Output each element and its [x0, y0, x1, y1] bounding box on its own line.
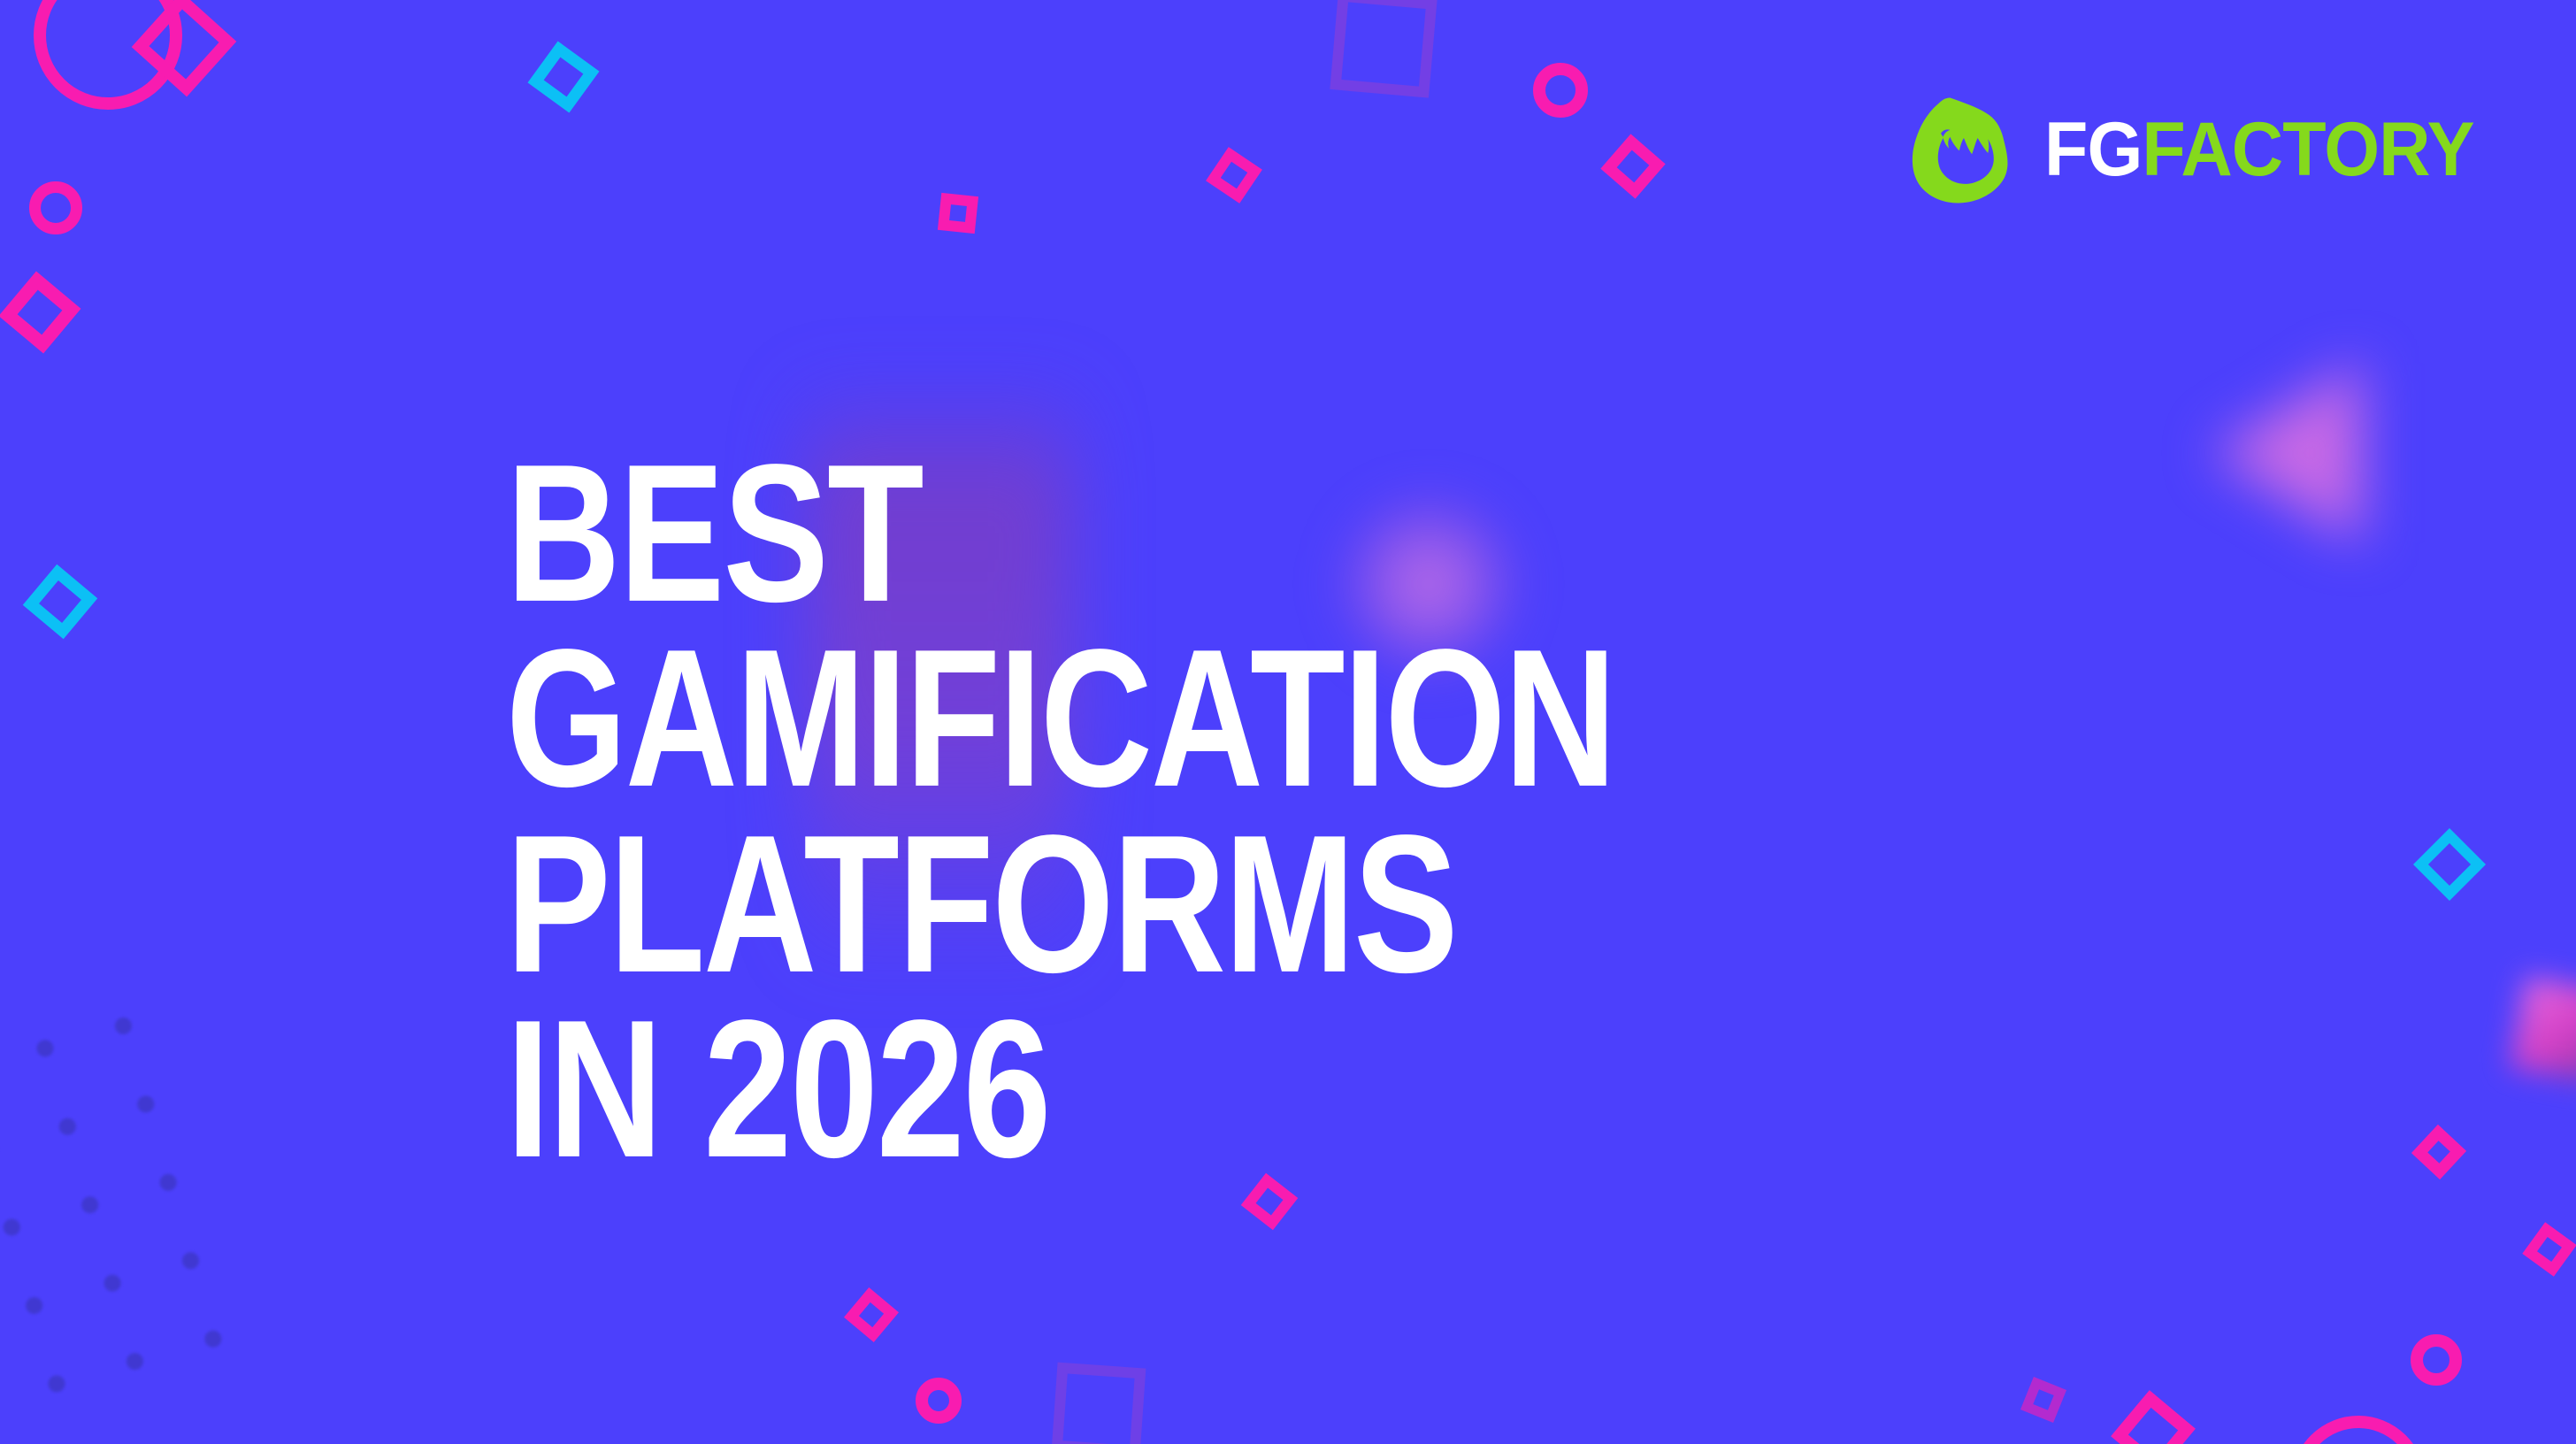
square-outline-magenta-far-right-edge-icon	[2522, 1222, 2576, 1276]
fgfactory-blob-logo-icon	[1906, 92, 2021, 207]
circle-outline-magenta-bottom-right-large-icon	[2291, 1416, 2426, 1444]
square-outline-cyan-topleft-icon	[527, 41, 599, 112]
fgfactory-wordmark: FGFACTORY	[2044, 111, 2474, 188]
square-outline-magenta-bottom-right-icon	[2111, 1390, 2196, 1444]
circle-outline-small-topleft-icon	[29, 181, 82, 234]
square-outline-purple-large-top-icon	[1330, 0, 1437, 98]
square-outline-magenta-bottom-left-icon	[844, 1287, 899, 1342]
page-title: BEST GAMIFICATION PLATFORMS IN 2026	[506, 442, 2063, 1145]
dot-grid-pattern	[0, 970, 288, 1444]
circle-outline-magenta-bottom-left-icon	[916, 1378, 962, 1424]
circle-outline-magenta-right-icon	[2411, 1334, 2462, 1386]
headline-line-4: IN 2026	[506, 998, 2094, 1182]
banner-canvas: FGFACTORY BEST GAMIFICATION PLATFORMS IN…	[0, 0, 2576, 1444]
square-outline-purple-bottom-center-icon	[1052, 1363, 1146, 1444]
headline-line-2: GAMIFICATION	[506, 627, 2063, 811]
wordmark-fg: FG	[2044, 107, 2142, 192]
headline-line-3: PLATFORMS	[506, 813, 2079, 997]
square-outline-cyan-right-icon	[2413, 828, 2486, 901]
square-outline-magenta-right-lower-icon	[2411, 1125, 2466, 1179]
square-outline-magenta-small-top-icon	[938, 193, 978, 234]
headline-line-1: BEST	[506, 442, 2094, 626]
blurred-cube-right-edge-icon	[2511, 977, 2576, 1083]
square-outline-magenta-top-mid-icon	[1206, 147, 1262, 204]
circle-outline-large-topleft-icon	[34, 0, 182, 110]
wordmark-factory: FACTORY	[2143, 107, 2474, 192]
square-outline-left-mid-icon	[0, 272, 80, 354]
square-outline-cyan-left-lower-icon	[23, 565, 98, 640]
square-outline-topleft-a-icon	[132, 0, 237, 96]
square-outline-magenta-bottom-far-left-icon	[2020, 1377, 2066, 1423]
square-outline-magenta-top-right-icon	[1600, 134, 1665, 198]
blurred-triangle-right-icon	[2212, 361, 2362, 545]
fgfactory-logo[interactable]: FGFACTORY	[1906, 92, 2502, 207]
circle-outline-magenta-top-right-icon	[1533, 63, 1588, 118]
